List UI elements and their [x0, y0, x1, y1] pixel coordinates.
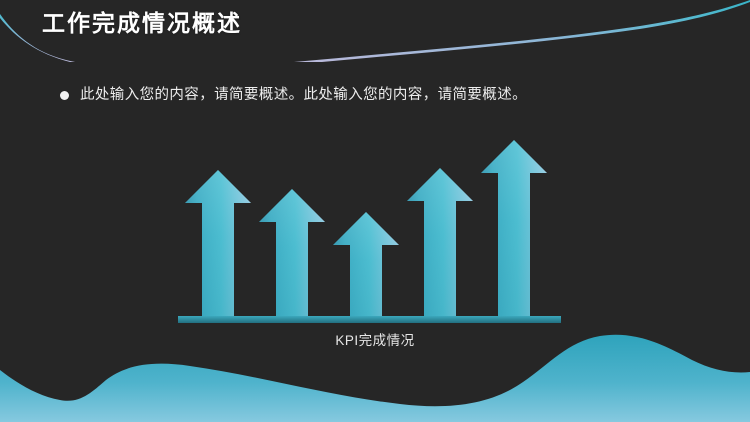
arrow-up-icon-5 [481, 140, 547, 317]
bullet-item-label: 此处输入您的内容，请简要概述。此处输入您的内容，请简要概述。 [80, 84, 527, 106]
chart-baseline [178, 316, 561, 323]
arrow-up-icon-1 [185, 170, 251, 317]
bullet-list-item: 此处输入您的内容，请简要概述。此处输入您的内容，请简要概述。 [60, 84, 527, 106]
arrow-up-icon-2 [259, 189, 325, 317]
footer-wave-shape [0, 332, 750, 422]
arrow-up-icon-3 [333, 212, 399, 317]
arrow-up-icon-4 [407, 168, 473, 317]
presentation-slide: 工作完成情况概述 此处输入您的内容，请简要概述。此处输入您的内容，请简要概述。 [0, 0, 750, 422]
page-title: 工作完成情况概述 [42, 9, 242, 37]
bullet-icon [60, 91, 69, 100]
